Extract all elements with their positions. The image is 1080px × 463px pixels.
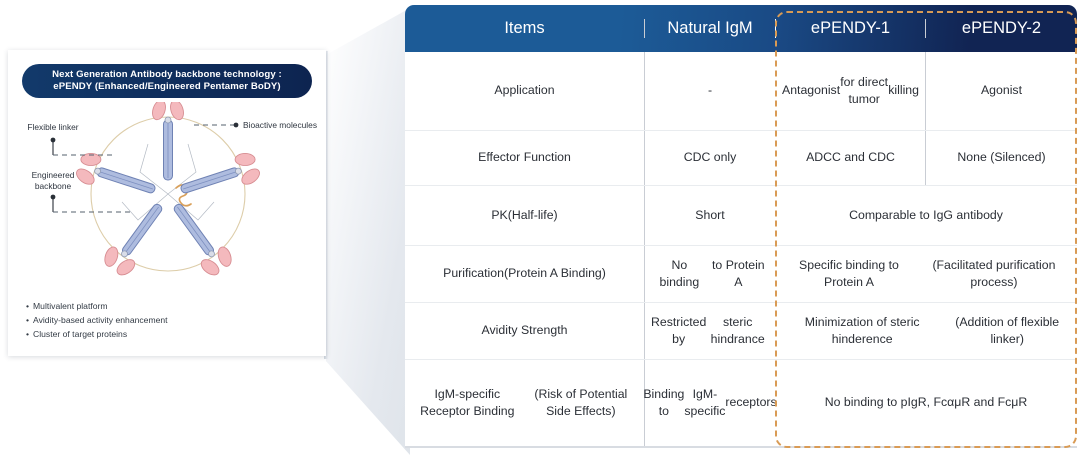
cell-natural-igm: Short	[645, 186, 775, 245]
cell-item: Purification(Protein A Binding)	[405, 246, 645, 302]
table-body: Application - Antagonistfor direct tumor…	[405, 52, 1077, 448]
cell-ependy-2: None (Silenced)	[925, 131, 1077, 185]
antibody-arm-lower-right	[162, 195, 239, 282]
engineered-backbone-label-2: backbone	[35, 181, 72, 191]
list-item: Avidity-based activity enhancement	[26, 314, 168, 328]
table-row: IgM-specific Receptor Binding(Risk of Po…	[405, 360, 1077, 448]
engineered-backbone-label-1: Engineered	[32, 170, 75, 180]
cell-ependy-merged: No binding to pIgR, FcαμR and FcμR	[775, 360, 1077, 446]
column-header-items: Items	[405, 19, 645, 38]
bioactive-molecules-leader	[194, 123, 238, 128]
cell-natural-igm: Binding toIgM-specificreceptors	[645, 360, 775, 446]
cell-ependy-merged: Comparable to IgG antibody	[775, 186, 1077, 245]
list-item: Cluster of target proteins	[26, 328, 168, 342]
cell-natural-igm: CDC only	[645, 131, 775, 185]
cell-ependy-1: Antagonistfor direct tumorkilling	[775, 52, 925, 130]
feature-bullet-list: Multivalent platform Avidity-based activ…	[26, 300, 168, 342]
cell-item: IgM-specific Receptor Binding(Risk of Po…	[405, 360, 645, 446]
column-header-natural-igm: Natural IgM	[645, 19, 775, 38]
diagram-card: Next Generation Antibody backbone techno…	[8, 50, 326, 356]
cell-item: PK(Half-life)	[405, 186, 645, 245]
cell-item: Application	[405, 52, 645, 130]
cell-ependy-merged: Specific binding to Protein A(Facilitate…	[775, 246, 1077, 302]
pentamer-antibody-diagram: Flexible linker Engineered backbone Bioa…	[8, 102, 326, 298]
cell-ependy-1: ADCC and CDC	[775, 131, 925, 185]
list-item: Multivalent platform	[26, 300, 168, 314]
column-header-ependy-2: ePENDY-2	[925, 19, 1077, 38]
flexible-linker-label: Flexible linker	[27, 122, 78, 132]
table-row: Effector Function CDC only ADCC and CDC …	[405, 131, 1077, 186]
banner-line-1: Next Generation Antibody backbone techno…	[52, 69, 282, 81]
cell-item: Avidity Strength	[405, 303, 645, 359]
cell-natural-igm: Restricted bysteric hindrance	[645, 303, 775, 359]
table-header-row: Items Natural IgM ePENDY-1 ePENDY-2	[405, 5, 1077, 52]
antibody-arm-lower-left	[98, 195, 175, 282]
cell-natural-igm: No bindingto Protein A	[645, 246, 775, 302]
table-row: Purification(Protein A Binding) No bindi…	[405, 246, 1077, 303]
card-title-banner: Next Generation Antibody backbone techno…	[22, 64, 312, 98]
table-row: Avidity Strength Restricted bysteric hin…	[405, 303, 1077, 360]
cell-natural-igm: -	[645, 52, 775, 130]
column-header-ependy-1: ePENDY-1	[775, 19, 925, 38]
table-row: PK(Half-life) Short Comparable to IgG an…	[405, 186, 1077, 246]
banner-line-2: ePENDY (Enhanced/Engineered Pentamer BoD…	[53, 81, 280, 93]
antibody-arm-top	[150, 102, 186, 180]
comparison-table: Items Natural IgM ePENDY-1 ePENDY-2 Appl…	[405, 5, 1077, 457]
bioactive-molecules-label: Bioactive molecules	[243, 120, 317, 130]
flexible-linker-leader	[51, 138, 116, 155]
cell-item: Effector Function	[405, 131, 645, 185]
table-row: Application - Antagonistfor direct tumor…	[405, 52, 1077, 131]
cell-ependy-merged: Minimization of steric hinderence(Additi…	[775, 303, 1077, 359]
zoom-connector-shape	[326, 8, 410, 455]
cell-ependy-2: Agonist	[925, 52, 1077, 130]
